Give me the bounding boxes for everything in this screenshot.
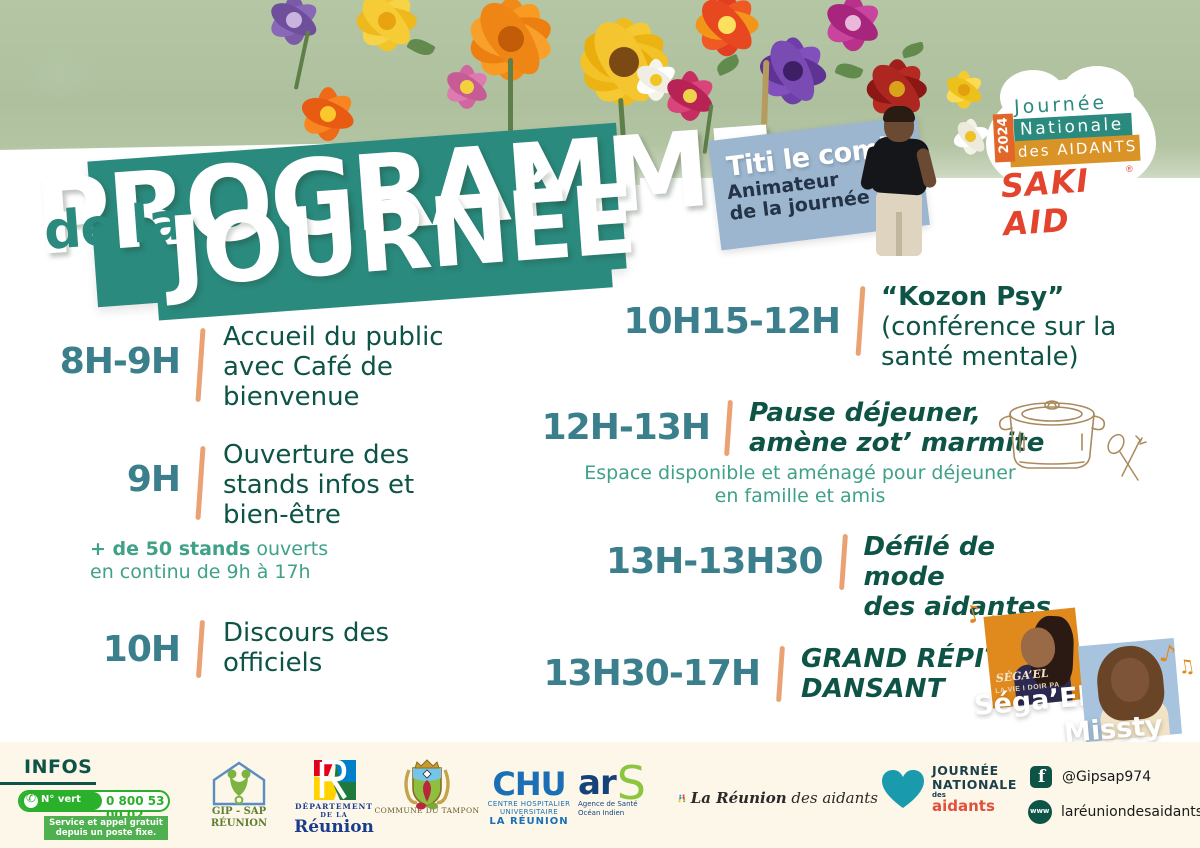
schedule-time: 9H [40, 462, 180, 498]
ars-sub1: Agence de Santé [578, 800, 688, 809]
schedule-divider [195, 446, 205, 520]
departement-r-mark [306, 758, 362, 802]
event-logo: Journée Nationale des AIDANTS 2024 SAKI … [986, 78, 1156, 206]
desc-line: bien-être [223, 500, 414, 530]
website-url[interactable]: laréuniondesaidants.re [1061, 804, 1200, 820]
facebook-row[interactable]: @Gipsap974 [1030, 766, 1151, 788]
logo-departement-reunion: DÉPARTEMENT DE LA Réunion [288, 758, 380, 835]
chu-wordmark: CHU [464, 768, 594, 800]
n-vert-tag: N° vert [20, 792, 102, 810]
subnote-line1: + de 50 stands ouverts [90, 538, 510, 561]
desc-line: Accueil du public [223, 322, 444, 352]
music-note-icon: ♫ [1176, 655, 1197, 680]
desc-line: santé mentale) [881, 342, 1116, 372]
subnote-line2: en famille et amis [540, 485, 1060, 508]
schedule-item-right-0: 10H15-12H “Kozon Psy” (conférence sur la… [570, 282, 1190, 372]
people-cluster-icon [678, 782, 687, 814]
desc-line: GRAND RÉPIT [801, 644, 1002, 674]
facebook-icon[interactable] [1030, 766, 1052, 788]
chu-subtitle: CENTRE HOSPITALIER UNIVERSITAIRE [464, 800, 594, 816]
schedule-time: 12H-13H [520, 410, 710, 446]
flower-yellow-small [944, 70, 984, 110]
subnote-highlight: + de 50 stands [90, 538, 250, 560]
heart-icon [880, 768, 926, 810]
infos-label: INFOS [24, 756, 92, 778]
infos-divider [0, 782, 96, 785]
schedule-description: Ouverture des stands infos et bien-être [223, 440, 414, 530]
desc-line: “Kozon Psy” [881, 282, 1116, 312]
schedule-description: Discours des officiels [223, 618, 389, 678]
flower-red-orange [694, 0, 760, 58]
schedule-time: 10H [40, 632, 180, 668]
jna-small-line1: JOURNÉE [932, 764, 1017, 778]
schedule-divider [724, 400, 733, 456]
gipsap-line2: RÉUNION [196, 818, 282, 830]
logo-saki-aid: SAKI AID [1000, 157, 1159, 244]
n-vert-label: N° vert [41, 794, 81, 805]
schedule-divider [856, 286, 866, 356]
coat-of-arms-icon [399, 754, 455, 806]
phone-icon [24, 794, 38, 808]
schedule-subnote-lunch: Espace disponible et aménagé pour déjeun… [540, 462, 1060, 508]
logo-aidants-text: des AIDANTS [1018, 137, 1138, 161]
facebook-handle[interactable]: @Gipsap974 [1062, 769, 1151, 785]
logo-year-band: 2024 [993, 114, 1015, 163]
logo-gip-sap-reunion: GIP - SAP RÉUNION [196, 760, 282, 829]
schedule-time: 13H30-17H [520, 656, 760, 692]
flower-magenta-2 [824, 0, 882, 52]
desc-line: Discours des [223, 618, 389, 648]
logo-year-text: 2024 [995, 117, 1012, 154]
jna-small-line4: aidants [932, 799, 1017, 814]
schedule-time: 8H-9H [40, 344, 180, 380]
poster-title: PROGRAMME de la JOURNÉE [0, 62, 700, 272]
poster-root: PROGRAMME de la JOURNÉE Titi le comik An… [0, 0, 1200, 848]
chu-region: LA RÉUNION [464, 816, 594, 827]
desc-line: (conférence sur la [881, 312, 1116, 342]
schedule-divider [195, 328, 205, 402]
schedule-time: 13H-13H30 [520, 544, 823, 580]
cooking-pot-icon [990, 392, 1150, 492]
schedule-subnote-stands: + de 50 stands ouverts en continu de 9h … [90, 538, 510, 584]
desc-line: officiels [223, 648, 389, 678]
ars-sub2: Océan Indien [578, 809, 688, 818]
schedule-item-right-2: 13H-13H30 Défilé de mode des aidantes [520, 532, 1080, 622]
logo-journee-nationale-aidants: JOURNÉE NATIONALE des aidants [880, 764, 1030, 814]
ars-wordmark: ar [578, 766, 616, 800]
website-row[interactable]: laréuniondesaidants.re [1028, 800, 1200, 824]
note-line2: depuis un poste fixe. [48, 828, 164, 838]
departement-line3: Réunion [288, 819, 380, 835]
flower-white-small [952, 118, 990, 156]
gipsap-line1: GIP - SAP [196, 806, 282, 818]
flower-purple-1 [268, 0, 320, 46]
schedule-item-left-1: 9H Ouverture des stands infos et bien-êt… [40, 440, 540, 530]
desc-line: avec Café de [223, 352, 444, 382]
jna-small-line2: NATIONALE [932, 778, 1017, 792]
subnote-line2: en continu de 9h à 17h [90, 561, 510, 584]
schedule-item-left-0: 8H-9H Accueil du public avec Café de bie… [40, 322, 540, 412]
schedule-divider [776, 646, 785, 702]
subnote-rest: ouverts [250, 538, 328, 560]
phone-free-note: Service et appel gratuit depuis un poste… [44, 816, 168, 840]
phone-number-badge[interactable]: N° vert 0 800 53 00 02 [18, 790, 170, 812]
logo-ars-ocean-indien: ar S Agence de Santé Océan Indien [578, 766, 688, 818]
schedule-time: 10H15-12H [570, 304, 840, 340]
subnote-line1: Espace disponible et aménagé pour déjeun… [540, 462, 1060, 485]
leaf [901, 42, 925, 59]
desc-line: stands infos et [223, 470, 414, 500]
title-connector: de la [42, 192, 185, 262]
logo-la-reunion-des-aidants: La Réunion des aidants [678, 782, 878, 814]
leaf [834, 60, 863, 83]
animator-photo [862, 108, 938, 258]
schedule-description: “Kozon Psy” (conférence sur la santé men… [881, 282, 1116, 372]
departement-line1: DÉPARTEMENT [288, 802, 380, 811]
lrda-italic: des aidants [787, 789, 878, 807]
logo-chu-la-reunion: CHU CENTRE HOSPITALIER UNIVERSITAIRE LA … [464, 768, 594, 827]
logo-registered-mark: ® [1126, 164, 1133, 174]
schedule-item-left-2: 10H Discours des officiels [40, 618, 540, 678]
schedule-description: Accueil du public avec Café de bienvenue [223, 322, 444, 412]
schedule-divider [196, 620, 205, 678]
desc-line: Ouverture des [223, 440, 414, 470]
lrda-bold: La Réunion [691, 789, 787, 807]
globe-icon[interactable] [1028, 800, 1052, 824]
desc-line: Défilé de mode [864, 532, 1080, 592]
desc-line: DANSANT [801, 674, 1002, 704]
house-icon [210, 760, 268, 806]
desc-line: bienvenue [223, 382, 444, 412]
schedule-divider [839, 534, 848, 590]
schedule-description: GRAND RÉPIT DANSANT [801, 644, 1002, 704]
note-line1: Service et appel gratuit [48, 818, 164, 828]
footer: INFOS N° vert 0 800 53 00 02 Service et … [0, 742, 1200, 848]
